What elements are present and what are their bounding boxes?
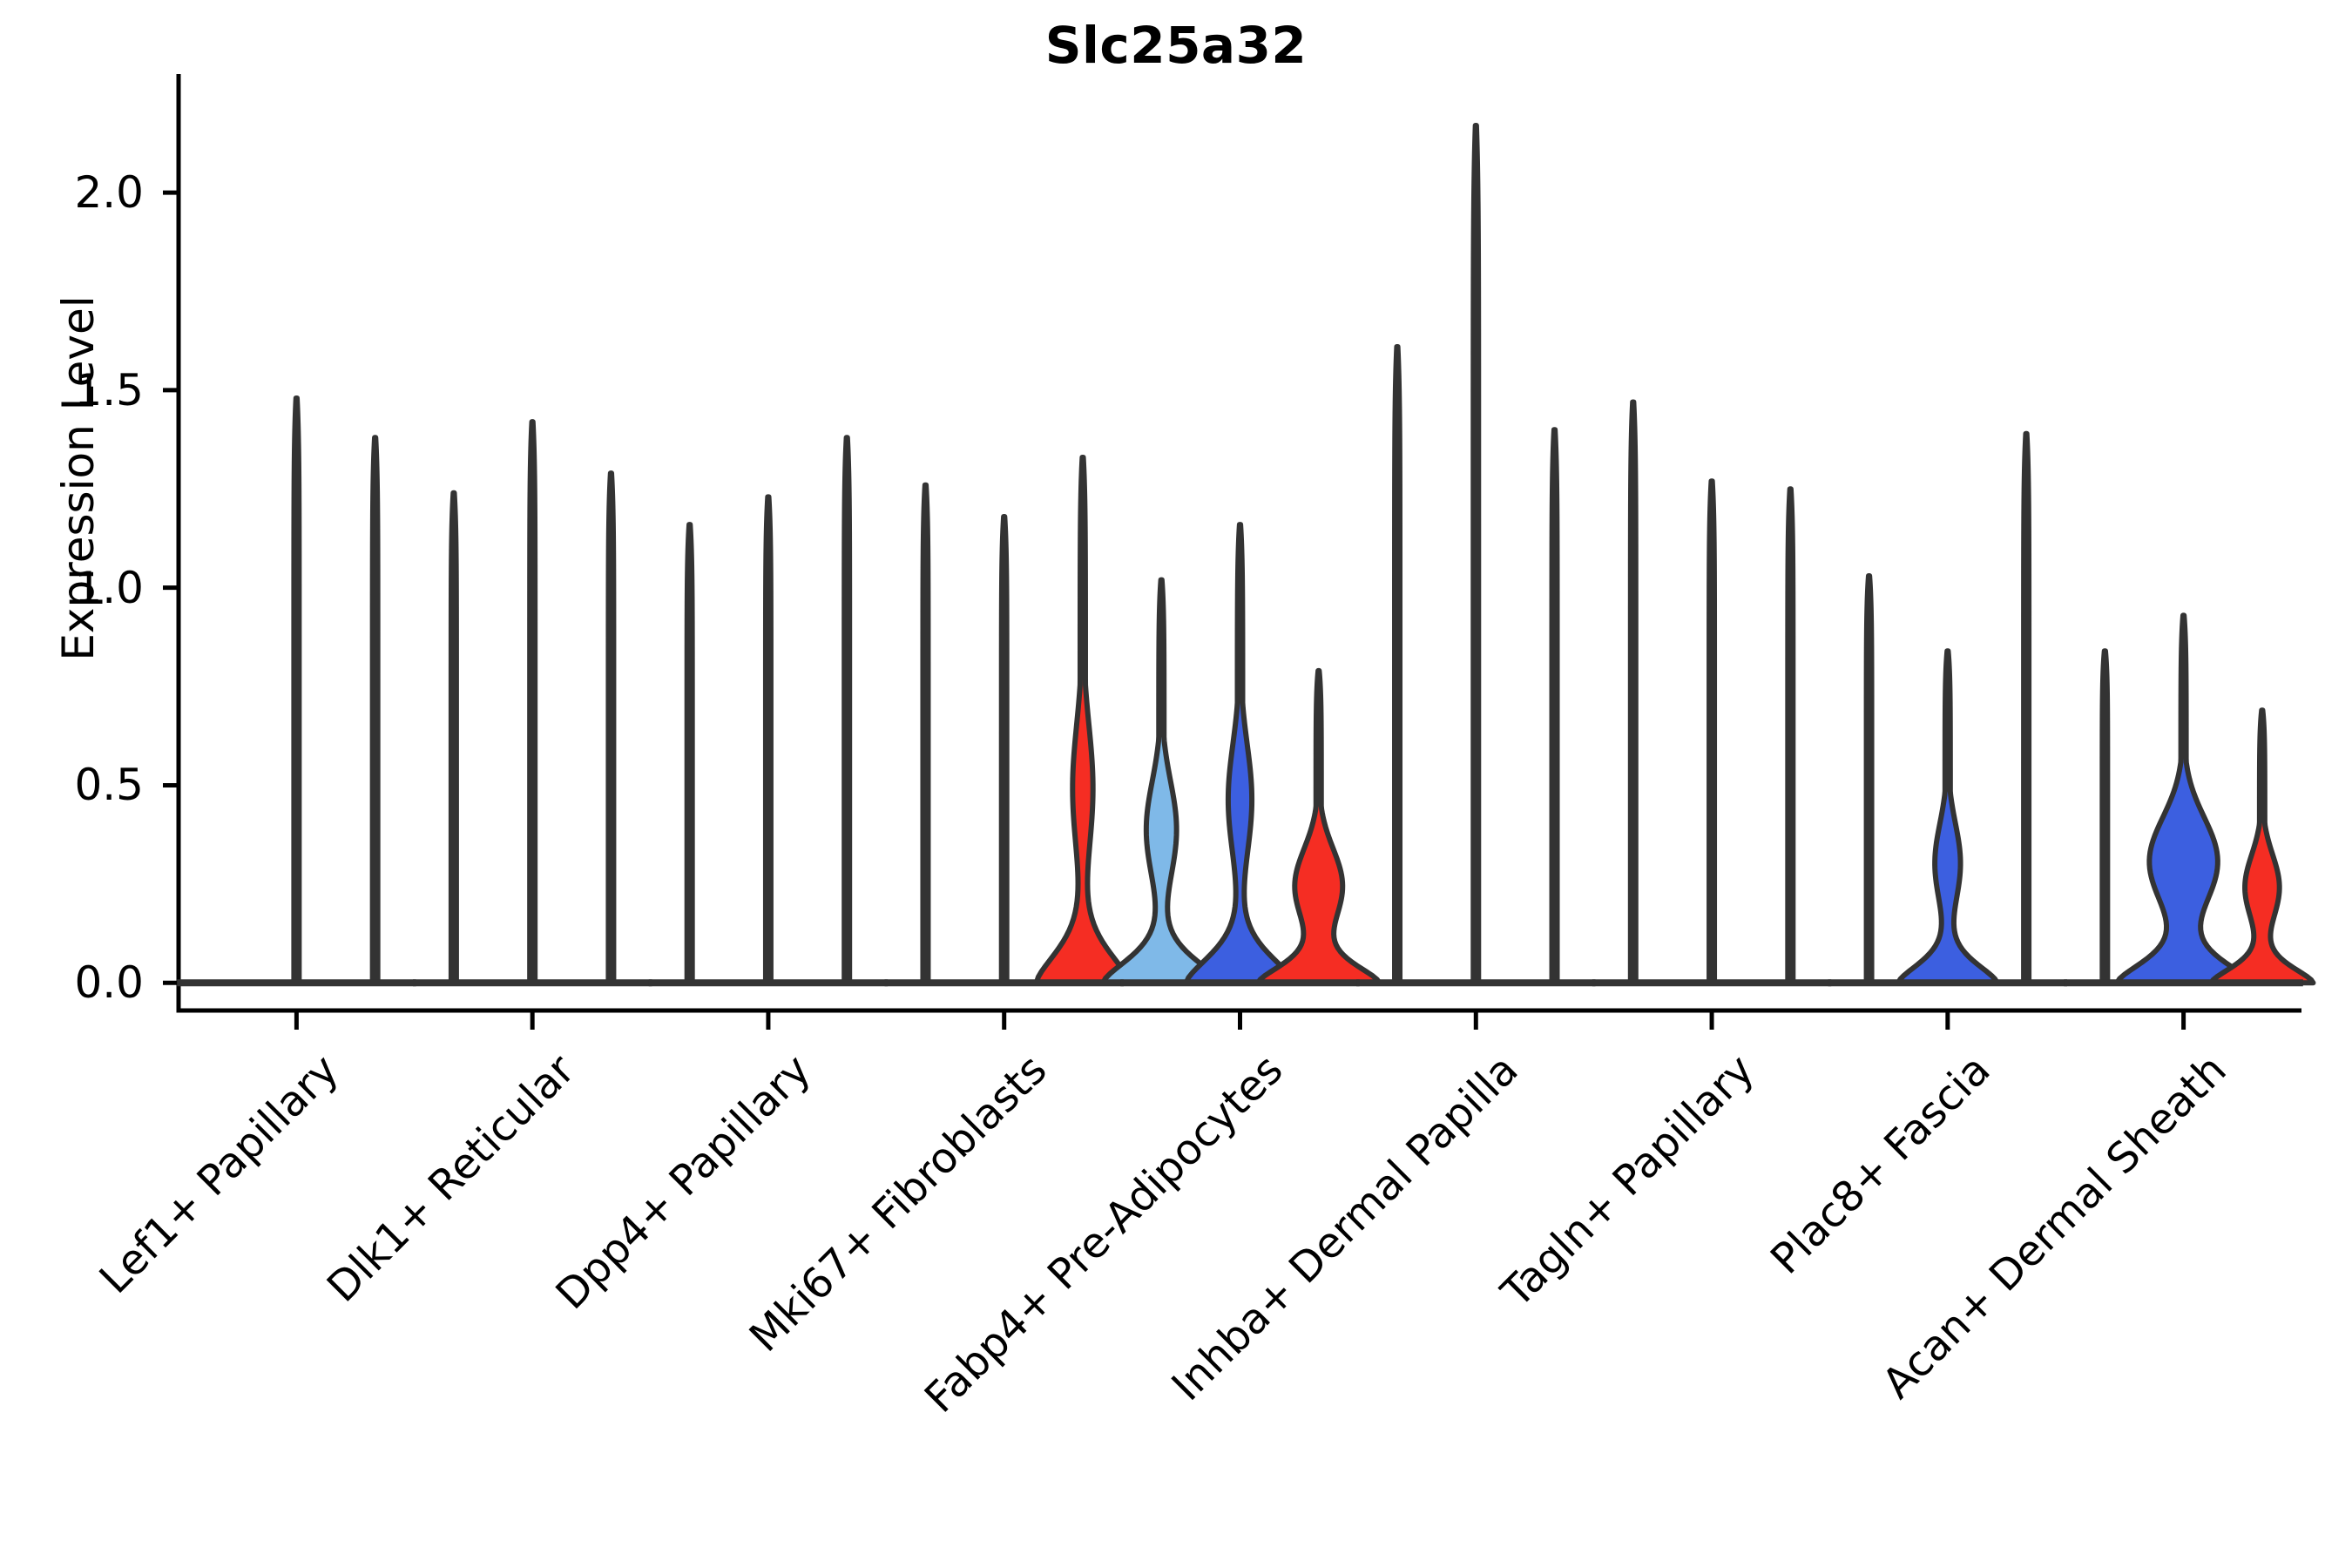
violin-canvas (0, 0, 2352, 1568)
violin-shape (530, 422, 535, 983)
violin-shape (844, 437, 849, 983)
violin-shape (2102, 651, 2107, 983)
violin-shape (923, 485, 928, 983)
violin-shape (687, 524, 693, 983)
violin-shape (2211, 710, 2313, 983)
violin-shape (608, 473, 613, 983)
violin-shape (1898, 651, 1997, 983)
violin-shape (766, 497, 771, 983)
violin-shape (1788, 489, 1793, 983)
violin-shape (1186, 524, 1294, 983)
violin-shape (2024, 434, 2029, 983)
violin-shape (1103, 580, 1220, 983)
violin-shape (2117, 615, 2250, 983)
violin-shape (1258, 671, 1379, 983)
violin-shape (1631, 402, 1636, 983)
violin-shape (1709, 481, 1714, 983)
violin-shape (1037, 457, 1130, 983)
violin-shape (1002, 517, 1007, 983)
violin-plot-figure: Slc25a32 Expression Level 0.00.51.01.52.… (0, 0, 2352, 1568)
violin-shape (1395, 347, 1400, 983)
violin-shape (1473, 125, 1478, 983)
violin-shape (451, 493, 456, 983)
violin-shape (294, 398, 299, 983)
violin-shape (373, 437, 378, 983)
violin-shape (1867, 576, 1872, 983)
violin-shape (1552, 429, 1558, 983)
